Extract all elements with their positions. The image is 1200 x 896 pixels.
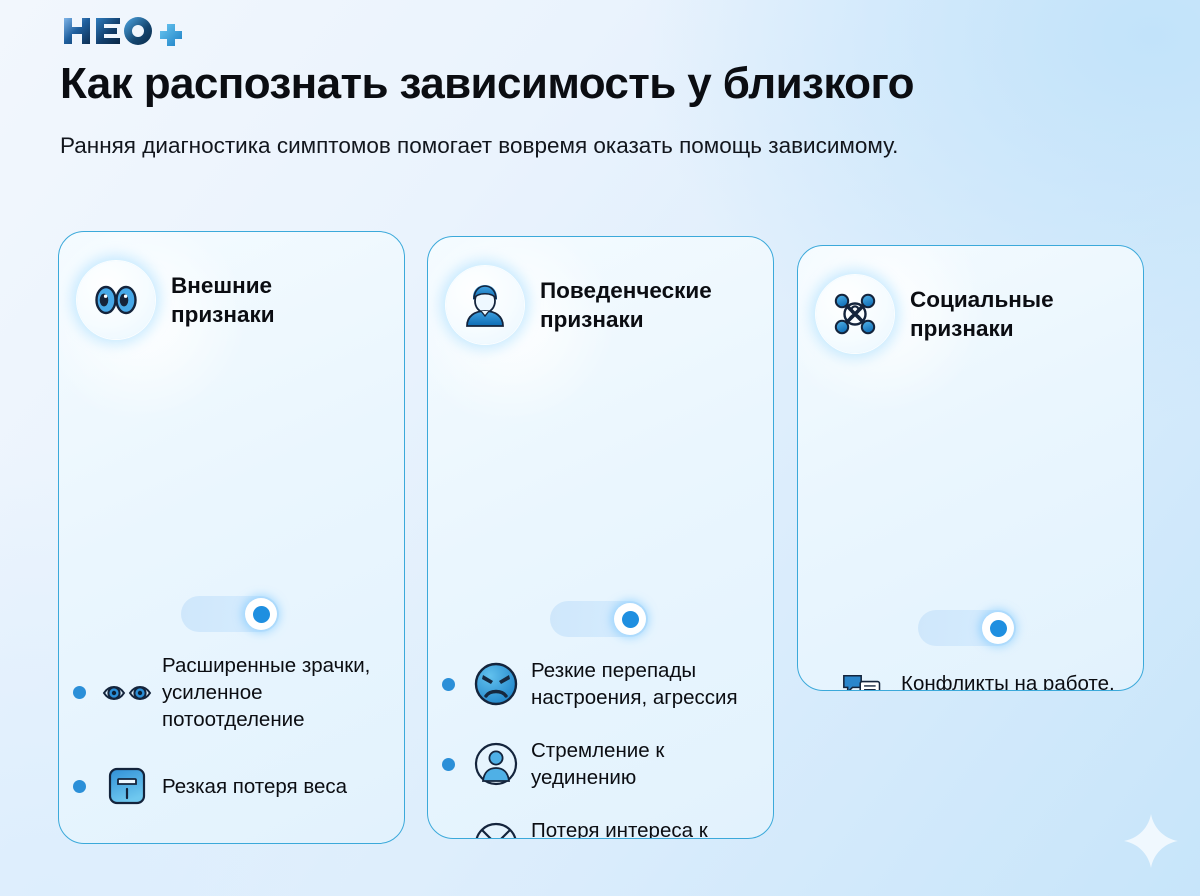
people-conflict-icon (839, 670, 893, 691)
neo-plus-logo-icon (62, 14, 192, 48)
signs-list: Резкие перепады настроения, агрессия Стр… (428, 657, 773, 839)
list-item: Конфликты на работе, учёбе, в семье (812, 670, 1127, 691)
list-item-text: Резкие перепады настроения, агрессия (531, 657, 757, 711)
page-subtitle: Ранняя диагностика симптомов помогает во… (60, 128, 1000, 163)
bullet-dot (812, 691, 825, 692)
card-header: Социальные признаки (798, 246, 1143, 382)
toggle-knob (614, 603, 646, 635)
card-behavioral-signs: Поведенческие признаки (427, 236, 774, 839)
list-item-text: Конфликты на работе, учёбе, в семье (901, 670, 1127, 691)
list-item-text: Стремление к уединению (531, 737, 757, 791)
signs-list: Конфликты на работе, учёбе, в семье S (798, 670, 1143, 691)
list-item-text: Расширенные зрачки, усиленное потоотделе… (162, 652, 388, 733)
card-social-signs: Социальные признаки (797, 245, 1144, 691)
header-icon-circle (446, 266, 524, 344)
bullet-dot (442, 838, 455, 840)
toggle-social[interactable] (918, 610, 1016, 646)
list-item: Стремление к уединению (442, 737, 757, 791)
social-network-icon (831, 290, 879, 338)
person-avatar-icon (463, 282, 507, 328)
crossed-circle-icon (469, 817, 523, 839)
list-item-text: Резкая потеря веса (162, 773, 347, 800)
toggle-knob (982, 612, 1014, 644)
header-icon-wrapper (446, 266, 524, 344)
signs-list: Расширенные зрачки, усиленное потоотделе… (59, 652, 404, 844)
angry-face-icon (469, 657, 523, 711)
card-external-signs: Внешние признаки Расши (58, 231, 405, 844)
person-circle-icon (469, 737, 523, 791)
card-header: Внешние признаки (59, 232, 404, 368)
sparkle-icon (1122, 812, 1180, 870)
card-title: Социальные признаки (910, 285, 1116, 343)
header-icon-circle (816, 275, 894, 353)
card-title: Поведенческие признаки (540, 276, 746, 334)
toggle-external[interactable] (181, 596, 279, 632)
bullet-dot (442, 758, 455, 771)
list-item-text: Потеря интереса к хобби, апатия (531, 817, 757, 839)
list-item: Потеря интереса к хобби, апатия (442, 817, 757, 839)
toggle-knob (245, 598, 277, 630)
bullet-dot (73, 686, 86, 699)
page-title: Как распознать зависимость у близкого (60, 58, 1160, 110)
card-header: Поведенческие признаки (428, 237, 773, 373)
infographic-canvas: Как распознать зависимость у близкого Ра… (0, 0, 1200, 896)
header-icon-circle (77, 261, 155, 339)
list-item-text: Разрушение зубов, высыпания, гнойники (162, 839, 388, 844)
list-item: Резкая потеря веса (73, 759, 388, 813)
bullet-dot (442, 678, 455, 691)
toggle-behavioral[interactable] (550, 601, 648, 637)
list-item: Расширенные зрачки, усиленное потоотделе… (73, 652, 388, 733)
list-item: Разрушение зубов, высыпания, гнойники (73, 839, 388, 844)
header-icon-wrapper (816, 275, 894, 353)
card-title: Внешние признаки (171, 271, 377, 329)
list-item: Резкие перепады настроения, агрессия (442, 657, 757, 711)
header-icon-wrapper (77, 261, 155, 339)
dilated-pupils-icon (100, 666, 154, 720)
bullet-dot (73, 780, 86, 793)
brand-logo[interactable] (62, 14, 192, 48)
eyes-icon (93, 283, 139, 317)
sparkle-decoration (1122, 812, 1180, 870)
weight-scale-icon (100, 759, 154, 813)
decayed-tooth-icon (100, 839, 154, 844)
